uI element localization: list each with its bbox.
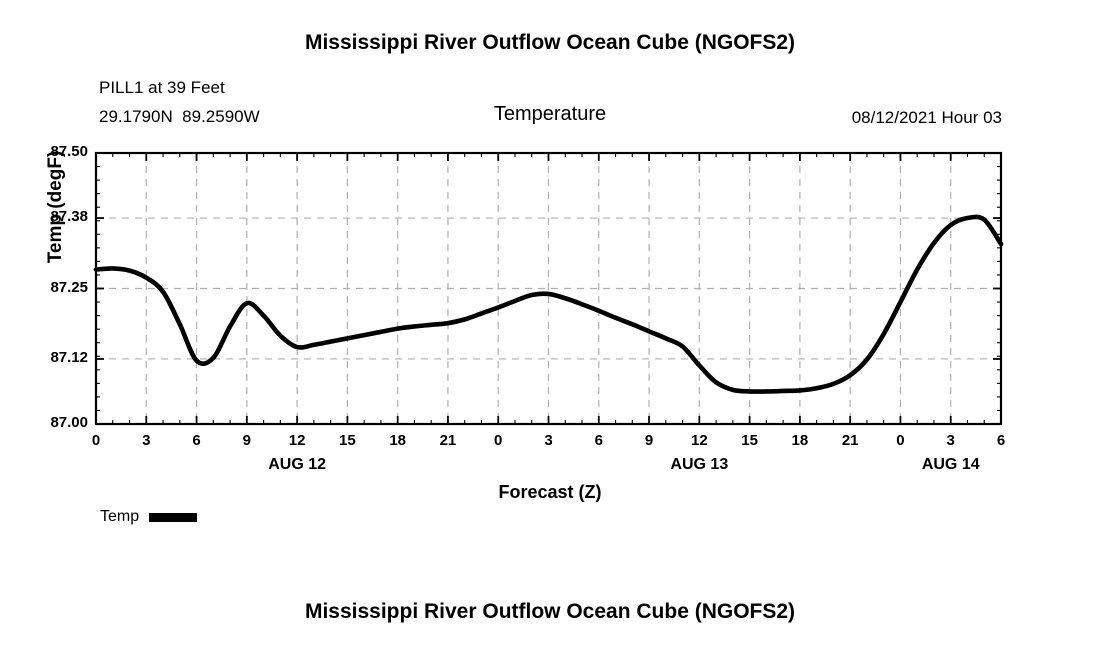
x-axis-tick-label: 12 xyxy=(691,432,708,449)
x-axis-tick-label: 21 xyxy=(842,432,859,449)
x-axis-tick-labels: 036912151821036912151821036AUG 12AUG 13A… xyxy=(0,0,1100,650)
x-axis-tick-label: 0 xyxy=(896,432,904,449)
x-axis-tick-label: 12 xyxy=(289,432,306,449)
x-axis-title: Forecast (Z) xyxy=(0,482,1100,503)
chart-page: Mississippi River Outflow Ocean Cube (NG… xyxy=(0,0,1100,650)
x-axis-tick-label: 3 xyxy=(142,432,150,449)
x-axis-tick-label: 9 xyxy=(645,432,653,449)
x-axis-day-label: AUG 13 xyxy=(670,456,728,474)
x-axis-day-label: AUG 14 xyxy=(922,456,980,474)
x-axis-tick-label: 9 xyxy=(243,432,251,449)
page-title-bottom: Mississippi River Outflow Ocean Cube (NG… xyxy=(0,600,1100,624)
x-axis-tick-label: 15 xyxy=(741,432,758,449)
x-axis-tick-label: 3 xyxy=(947,432,955,449)
x-axis-day-label: AUG 12 xyxy=(268,456,326,474)
x-axis-tick-label: 6 xyxy=(595,432,603,449)
x-axis-tick-label: 6 xyxy=(192,432,200,449)
x-axis-tick-label: 18 xyxy=(792,432,809,449)
x-axis-tick-label: 6 xyxy=(997,432,1005,449)
legend: Temp xyxy=(100,508,197,526)
legend-line-swatch xyxy=(149,513,197,522)
x-axis-tick-label: 0 xyxy=(92,432,100,449)
x-axis-tick-label: 18 xyxy=(389,432,406,449)
x-axis-tick-label: 21 xyxy=(440,432,457,449)
x-axis-tick-label: 15 xyxy=(339,432,356,449)
legend-label-temp: Temp xyxy=(100,508,139,526)
x-axis-tick-label: 0 xyxy=(494,432,502,449)
x-axis-tick-label: 3 xyxy=(544,432,552,449)
